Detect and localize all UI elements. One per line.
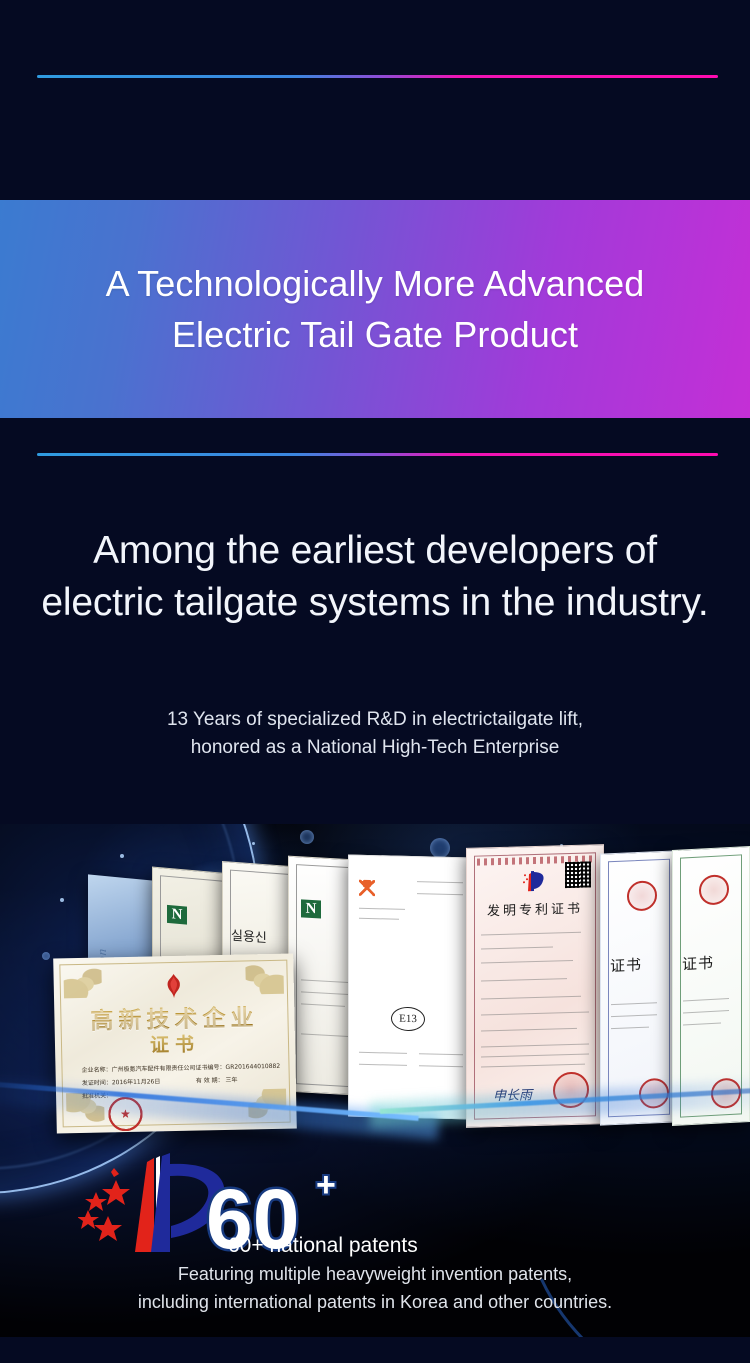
cert-title-invention-patent: 发明专利证书: [467, 897, 603, 920]
bokeh-dot: [42, 952, 50, 960]
star-dot: [60, 898, 64, 902]
star-dot: [252, 842, 255, 845]
divider-middle: [37, 453, 718, 456]
p-brand-logo-small-icon: [522, 869, 548, 894]
e13-mark-icon: E13: [391, 1007, 425, 1032]
patents-headline: 60+ national patents: [228, 1232, 750, 1259]
cert-field-validity: 有 效 期： 三年: [196, 1075, 238, 1085]
ornament-corner: [245, 964, 284, 995]
cert-title-zhengshu: 证书: [610, 954, 642, 976]
nemko-n-icon: N: [301, 899, 321, 918]
cert-e-mark: E13: [348, 854, 472, 1119]
agency-logo-icon: [359, 880, 375, 896]
certificates-hero-image: ration N 실용신 N: [0, 824, 750, 1337]
cert-title-zhengshu: 证书: [682, 952, 714, 975]
star-dot: [120, 854, 124, 858]
page-headline: Among the earliest developers of electri…: [0, 525, 750, 629]
qr-code-icon: [565, 861, 591, 888]
divider-top: [37, 75, 718, 78]
cert-subtitle-zhengshu: 证书: [55, 1027, 296, 1059]
patents-text-block: 60+ national patents Featuring multiple …: [0, 1232, 750, 1317]
svg-text:+: +: [316, 1166, 336, 1204]
banner-title: A Technologically More Advanced Electric…: [106, 258, 645, 360]
cert-blue-frame: 证书: [600, 850, 678, 1125]
bokeh-dot: [430, 838, 450, 858]
star-cluster-icon: [78, 1168, 130, 1241]
cert-title-korean: 실용신: [231, 925, 267, 947]
cert-field-number: 证书编号：GR201644010882: [195, 1061, 280, 1072]
nemko-n-icon: N: [167, 905, 187, 925]
patents-detail: Featuring multiple heavyweight invention…: [0, 1261, 750, 1317]
cert-invention-patent: 发明专利证书 申长雨: [466, 844, 604, 1128]
flame-emblem-icon: [161, 973, 188, 1000]
ornament-corner: [63, 968, 102, 999]
headline-banner: A Technologically More Advanced Electric…: [0, 200, 750, 418]
promo-page: A Technologically More Advanced Electric…: [0, 0, 750, 1363]
page-subheadline: 13 Years of specialized R&D in electrict…: [0, 706, 750, 761]
bokeh-dot: [300, 830, 314, 844]
